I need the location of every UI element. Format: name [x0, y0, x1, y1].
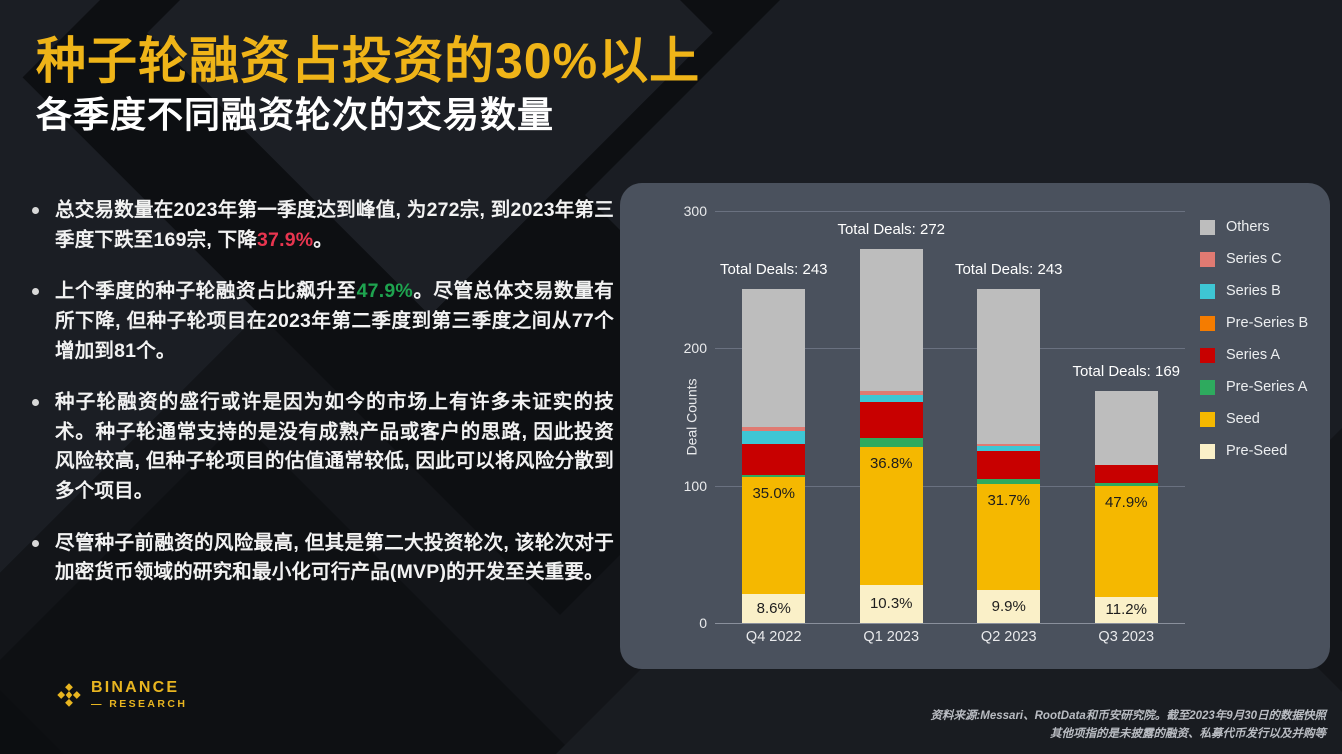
segment-percent-label: 8.6%	[757, 600, 791, 617]
bullet-dot-icon	[32, 288, 39, 295]
bar-segment-seed[interactable]: 31.7%	[977, 484, 1040, 590]
legend-swatch-icon	[1200, 284, 1215, 299]
legend-swatch-icon	[1200, 412, 1215, 427]
bullet-highlight-negative: 37.9%	[257, 229, 313, 251]
bar-segment-series-a[interactable]	[1095, 465, 1158, 483]
legend-item-pre-series-b[interactable]: Pre-Series B	[1200, 307, 1308, 339]
chart-plot-area: Deal Counts 01002003008.6%35.0%Total Dea…	[715, 211, 1185, 623]
bullet-text-run: 。	[313, 229, 333, 251]
legend-swatch-icon	[1200, 348, 1215, 363]
y-gridline	[715, 623, 1185, 624]
segment-percent-label: 11.2%	[1106, 601, 1147, 618]
legend-item-series-a[interactable]: Series A	[1200, 339, 1308, 371]
legend-swatch-icon	[1200, 444, 1215, 459]
bar-segment-series-c[interactable]	[860, 391, 923, 395]
bar-segment-pre-series-a[interactable]	[1095, 483, 1158, 486]
bullet-dot-icon	[32, 399, 39, 406]
source-note: 资料来源:Messari、RootData和币安研究院。截至2023年9月30日…	[930, 708, 1326, 744]
segment-percent-label: 35.0%	[752, 485, 795, 502]
legend-item-pre-seed[interactable]: Pre-Seed	[1200, 435, 1308, 467]
legend-swatch-icon	[1200, 220, 1215, 235]
y-axis-tick-label: 300	[647, 203, 707, 219]
y-axis-tick-label: 100	[647, 478, 707, 494]
legend-label: Pre-Series B	[1226, 315, 1308, 331]
bar-segment-others[interactable]	[860, 249, 923, 390]
binance-diamond-icon	[56, 682, 82, 708]
bar-segment-others[interactable]	[742, 289, 805, 426]
insight-bullet: 种子轮融资的盛行或许是因为如今的市场上有许多未证实的技术。种子轮通常支持的是没有…	[24, 388, 614, 507]
segment-percent-label: 36.8%	[870, 455, 913, 472]
bar-segment-series-c[interactable]	[977, 444, 1040, 445]
bar-segment-pre-seed[interactable]: 11.2%	[1095, 597, 1158, 623]
chart-legend: OthersSeries CSeries BPre-Series BSeries…	[1200, 211, 1308, 467]
stacked-bar[interactable]: 8.6%35.0%	[742, 289, 805, 623]
binance-research-logo: BINANCE — RESEARCH	[56, 680, 187, 710]
bar-segment-series-b[interactable]	[742, 431, 805, 445]
bar-segment-series-b[interactable]	[977, 446, 1040, 451]
page-subtitle: 各季度不同融资轮次的交易数量	[36, 94, 700, 135]
legend-swatch-icon	[1200, 380, 1215, 395]
legend-item-seed[interactable]: Seed	[1200, 403, 1308, 435]
stacked-bar[interactable]: 11.2%47.9%	[1095, 391, 1158, 623]
legend-item-series-c[interactable]: Series C	[1200, 243, 1308, 275]
segment-percent-label: 31.7%	[987, 492, 1030, 509]
bar-total-label: Total Deals: 272	[837, 221, 945, 238]
legend-swatch-icon	[1200, 252, 1215, 267]
y-axis-tick-label: 0	[647, 615, 707, 631]
insight-bullet-list: 总交易数量在2023年第一季度达到峰值, 为272宗, 到2023年第三季度下跌…	[24, 196, 614, 610]
legend-swatch-icon	[1200, 316, 1215, 331]
source-line-1: 资料来源:Messari、RootData和币安研究院。截至2023年9月30日…	[930, 708, 1326, 726]
legend-item-series-b[interactable]: Series B	[1200, 275, 1308, 307]
bullet-text: 尽管种子前融资的风险最高, 但其是第二大投资轮次, 该轮次对于加密货币领域的研究…	[55, 529, 614, 588]
bullet-highlight-positive: 47.9%	[357, 280, 413, 302]
segment-percent-label: 10.3%	[870, 595, 913, 612]
insight-bullet: 上个季度的种子轮融资占比飙升至47.9%。尽管总体交易数量有所下降, 但种子轮项…	[24, 277, 614, 366]
bar-segment-series-a[interactable]	[977, 451, 1040, 478]
bar-segment-series-c[interactable]	[742, 427, 805, 431]
title-block: 种子轮融资占投资的30%以上 各季度不同融资轮次的交易数量	[36, 34, 700, 135]
bar-segment-pre-seed[interactable]: 8.6%	[742, 594, 805, 623]
logo-subname: — RESEARCH	[91, 699, 187, 710]
bullet-text: 上个季度的种子轮融资占比飙升至47.9%。尽管总体交易数量有所下降, 但种子轮项…	[55, 277, 614, 366]
legend-label: Pre-Series A	[1226, 379, 1307, 395]
bar-total-label: Total Deals: 243	[955, 261, 1063, 278]
bar-segment-series-b[interactable]	[860, 395, 923, 402]
bar-segment-series-a[interactable]	[742, 444, 805, 474]
bullet-dot-icon	[32, 540, 39, 547]
bullet-text: 总交易数量在2023年第一季度达到峰值, 为272宗, 到2023年第三季度下跌…	[55, 196, 614, 255]
bar-segment-series-a[interactable]	[860, 402, 923, 438]
segment-percent-label: 47.9%	[1105, 494, 1148, 511]
legend-label: Pre-Seed	[1226, 443, 1287, 459]
legend-label: Series B	[1226, 283, 1281, 299]
x-axis-tick-label: Q3 2023	[1098, 629, 1154, 645]
segment-percent-label: 9.9%	[992, 598, 1026, 615]
insight-bullet: 总交易数量在2023年第一季度达到峰值, 为272宗, 到2023年第三季度下跌…	[24, 196, 614, 255]
legend-label: Series A	[1226, 347, 1280, 363]
x-axis-tick-label: Q4 2022	[746, 629, 802, 645]
bar-total-label: Total Deals: 243	[720, 261, 828, 278]
legend-label: Series C	[1226, 251, 1282, 267]
bar-segment-pre-series-a[interactable]	[742, 475, 805, 478]
bullet-dot-icon	[32, 207, 39, 214]
legend-label: Seed	[1226, 411, 1260, 427]
logo-name: BINANCE	[91, 680, 187, 696]
legend-item-others[interactable]: Others	[1200, 211, 1308, 243]
stacked-bar[interactable]: 9.9%31.7%	[977, 289, 1040, 623]
bar-segment-pre-seed[interactable]: 10.3%	[860, 585, 923, 623]
stacked-bar[interactable]: 10.3%36.8%	[860, 249, 923, 623]
y-gridline	[715, 211, 1185, 212]
bar-segment-pre-series-a[interactable]	[860, 438, 923, 448]
insight-bullet: 尽管种子前融资的风险最高, 但其是第二大投资轮次, 该轮次对于加密货币领域的研究…	[24, 529, 614, 588]
page-title: 种子轮融资占投资的30%以上	[36, 34, 700, 88]
bullet-text-run: 上个季度的种子轮融资占比飙升至	[55, 280, 357, 302]
bullet-text-run: 种子轮融资的盛行或许是因为如今的市场上有许多未证实的技术。种子轮通常支持的是没有…	[55, 391, 614, 502]
bar-segment-others[interactable]	[1095, 391, 1158, 465]
bullet-text: 种子轮融资的盛行或许是因为如今的市场上有许多未证实的技术。种子轮通常支持的是没有…	[55, 388, 614, 507]
bar-segment-seed[interactable]: 35.0%	[742, 477, 805, 594]
bar-segment-others[interactable]	[977, 289, 1040, 444]
legend-item-pre-series-a[interactable]: Pre-Series A	[1200, 371, 1308, 403]
bullet-text-run: 总交易数量在2023年第一季度达到峰值, 为272宗, 到2023年第三季度下跌…	[55, 199, 614, 251]
bar-segment-seed[interactable]: 47.9%	[1095, 486, 1158, 597]
bar-segment-seed[interactable]: 36.8%	[860, 447, 923, 584]
logo-wordmark: BINANCE — RESEARCH	[91, 680, 187, 710]
bar-segment-pre-series-a[interactable]	[977, 479, 1040, 484]
chart-card: Deal Counts 01002003008.6%35.0%Total Dea…	[620, 183, 1330, 669]
y-axis-tick-label: 200	[647, 340, 707, 356]
x-axis-tick-label: Q2 2023	[981, 629, 1037, 645]
bar-segment-pre-seed[interactable]: 9.9%	[977, 590, 1040, 623]
bullet-text-run: 尽管种子前融资的风险最高, 但其是第二大投资轮次, 该轮次对于加密货币领域的研究…	[55, 532, 614, 584]
source-line-2: 其他项指的是未披露的融资、私募代币发行以及并购等	[930, 726, 1326, 744]
bar-total-label: Total Deals: 169	[1072, 363, 1180, 380]
x-axis-tick-label: Q1 2023	[863, 629, 919, 645]
y-axis-label: Deal Counts	[684, 378, 700, 455]
legend-label: Others	[1226, 219, 1270, 235]
